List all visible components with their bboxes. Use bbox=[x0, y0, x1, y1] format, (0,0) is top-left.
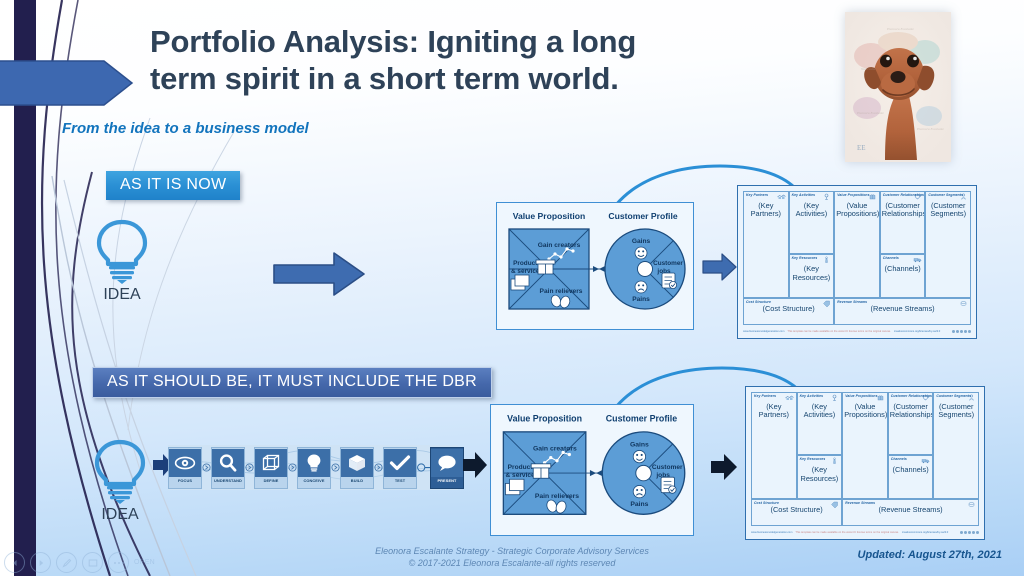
arrow-vpc-to-bmc-row1 bbox=[702, 252, 738, 282]
svg-text:Pain relievers: Pain relievers bbox=[540, 288, 583, 295]
bmc-footer-row2: www.businessmodelgeneration.com This tem… bbox=[751, 528, 979, 537]
bmc-label-key-partners: (Key Partners) bbox=[744, 202, 788, 219]
box-icon bbox=[341, 449, 373, 477]
svg-text:Pains: Pains bbox=[632, 296, 650, 303]
bmc-footer-mid: This template can be made available on t… bbox=[787, 330, 891, 333]
value-proposition-canvas-row2: Value Proposition Customer Profile Gain … bbox=[490, 404, 694, 536]
bmc-header-key-activities: Key Activities bbox=[800, 394, 824, 398]
bmc-cell-key-activities: Key Activities (Key Activities) bbox=[789, 191, 835, 254]
bmc-cell-key-partners: Key Partners (Key Partners) bbox=[751, 392, 797, 499]
dbr-connector-5 bbox=[374, 463, 383, 472]
bmc-label-value-propositions: (Value Propositions) bbox=[835, 202, 879, 219]
bmc-grid-row2: Key Partners (Key Partners) Key Activiti… bbox=[751, 392, 979, 526]
svg-text:Pains: Pains bbox=[630, 501, 648, 508]
bmc-label-customer-segments: (Customer Segments) bbox=[934, 403, 978, 420]
bmc-label-key-partners: (Key Partners) bbox=[752, 403, 796, 420]
lighthouse-icon bbox=[822, 256, 831, 263]
lightbulb-icon bbox=[92, 218, 152, 284]
bmc-label-cost-structure: (Cost Structure) bbox=[744, 305, 833, 313]
idea-block-row1: IDEA bbox=[82, 218, 162, 304]
updated-date: Updated: August 27th, 2021 bbox=[858, 549, 1002, 561]
idea-block-row2: IDEA bbox=[80, 438, 160, 524]
arrow-idea-to-vpc-row1 bbox=[272, 250, 366, 298]
idea-label-row2: IDEA bbox=[80, 506, 160, 524]
heart-icon bbox=[921, 394, 930, 401]
arrow-vpc-to-bmc-row2 bbox=[710, 452, 738, 482]
bmc-footer-left: www.businessmodelgeneration.com bbox=[743, 330, 784, 333]
bmc-header-revenue-streams: Revenue Streams bbox=[845, 501, 875, 505]
eye-icon bbox=[169, 449, 201, 477]
bmc-label-revenue-streams: (Revenue Streams) bbox=[843, 506, 978, 514]
play-icon[interactable] bbox=[30, 552, 51, 573]
truck-icon bbox=[921, 457, 930, 464]
bmc-footer-row1: www.businessmodelgeneration.com This tem… bbox=[743, 327, 971, 336]
player-open-label[interactable]: OPEN bbox=[134, 559, 155, 566]
idea-label-row1: IDEA bbox=[82, 286, 162, 304]
bmc-label-customer-relationships: (Customer Relationships) bbox=[889, 403, 933, 420]
svg-text:Value Proposition: Value Proposition bbox=[507, 414, 582, 424]
slides-icon[interactable] bbox=[82, 552, 103, 573]
dbr-step-label-focus: FOCUS bbox=[178, 478, 192, 483]
dbr-step-conceive[interactable]: CONCEIVE bbox=[297, 447, 331, 489]
svg-text:Pain relievers: Pain relievers bbox=[535, 493, 579, 500]
bmc-header-value-propositions: Value Propositions bbox=[837, 193, 869, 197]
dbr-step-label-define: DEFINE bbox=[264, 478, 279, 483]
dbr-connector-2 bbox=[245, 463, 254, 472]
dbr-step-test[interactable]: TEST bbox=[383, 447, 417, 489]
bmc-cell-customer-relationships: Customer Relationships (Customer Relatio… bbox=[888, 392, 934, 455]
bmc-label-revenue-streams: (Revenue Streams) bbox=[835, 305, 970, 313]
svg-text:Gains: Gains bbox=[630, 441, 649, 448]
bmc-cell-channels: Channels (Channels) bbox=[880, 254, 926, 298]
gear-arm-icon bbox=[822, 193, 831, 200]
bmc-footer-mid: This template can be made available on t… bbox=[795, 531, 899, 534]
dbr-step-focus[interactable]: FOCUS bbox=[168, 447, 202, 489]
handshake-icon bbox=[777, 193, 786, 200]
dbr-connector-6 bbox=[417, 463, 430, 472]
bmc-cell-value-propositions: Value Propositions (Value Propositions) bbox=[834, 191, 880, 298]
bmc-cell-key-resources: Key Resources (Key Resources) bbox=[797, 455, 843, 499]
dbr-connector-1 bbox=[202, 463, 211, 472]
dbr-step-label-understand: UNDERSTAND bbox=[214, 478, 242, 483]
bmc-label-value-propositions: (Value Propositions) bbox=[843, 403, 887, 420]
bmc-label-key-resources: (Key Resources) bbox=[798, 466, 842, 483]
banner-as-it-is-now: AS IT IS NOW bbox=[106, 171, 240, 200]
bmc-cell-revenue-streams: Revenue Streams (Revenue Streams) bbox=[842, 499, 979, 526]
bmc-label-customer-relationships: (Customer Relationships) bbox=[881, 202, 925, 219]
svg-text:Gain creators: Gain creators bbox=[538, 242, 581, 249]
bmc-cell-cost-structure: Cost Structure (Cost Structure) bbox=[751, 499, 842, 526]
bmc-header-channels: Channels bbox=[891, 457, 907, 461]
svg-text:Watercolor: Watercolor bbox=[861, 67, 877, 71]
dbr-step-present[interactable]: PRESENT bbox=[430, 447, 464, 489]
svg-text:Eleonora Escalante: Eleonora Escalante bbox=[916, 127, 944, 131]
business-model-canvas-row1: Key Partners (Key Partners) Key Activiti… bbox=[737, 185, 977, 339]
svg-text:Value Proposition: Value Proposition bbox=[513, 211, 586, 221]
page-title-line2: term spirit in a short term world. bbox=[150, 61, 750, 98]
title-chevron-icon bbox=[0, 57, 134, 109]
person-icon bbox=[959, 193, 968, 200]
page-title-line1: Portfolio Analysis: Igniting a long bbox=[150, 24, 750, 61]
bmc-header-value-propositions: Value Propositions bbox=[845, 394, 877, 398]
bmc-label-channels: (Channels) bbox=[889, 466, 933, 474]
bmc-license-dots bbox=[952, 330, 971, 333]
heart-icon bbox=[913, 193, 922, 200]
bmc-label-cost-structure: (Cost Structure) bbox=[752, 506, 841, 514]
person-icon bbox=[967, 394, 976, 401]
dbr-steps: FOCUS UNDERSTAND DEFINE bbox=[168, 445, 458, 490]
bmc-grid-row1: Key Partners (Key Partners) Key Activiti… bbox=[743, 191, 971, 325]
svg-text:Gains: Gains bbox=[632, 238, 651, 245]
truck-icon bbox=[913, 256, 922, 263]
dbr-step-define[interactable]: DEFINE bbox=[254, 447, 288, 489]
slide-canvas: Portfolio Analysis: Igniting a long term… bbox=[0, 0, 1024, 576]
bmc-label-key-activities: (Key Activities) bbox=[798, 403, 842, 420]
bmc-label-channels: (Channels) bbox=[881, 265, 925, 273]
speech-bubble-icon bbox=[431, 449, 463, 477]
svg-text:Customer: Customer bbox=[653, 260, 683, 267]
gift-icon bbox=[868, 193, 877, 200]
more-icon[interactable] bbox=[108, 552, 129, 573]
bmc-footer-right: creativecommons.org/licenses/by-sa/3.0 bbox=[894, 330, 940, 333]
bmc-cell-customer-segments: Customer Segments (Customer Segments) bbox=[933, 392, 979, 499]
handshake-icon bbox=[785, 394, 794, 401]
lighthouse-icon bbox=[830, 457, 839, 464]
bmc-header-customer-segments: Customer Segments bbox=[928, 193, 963, 197]
svg-text:Customer Profile: Customer Profile bbox=[606, 414, 677, 424]
bmc-header-channels: Channels bbox=[883, 256, 899, 260]
prev-icon[interactable] bbox=[4, 552, 25, 573]
bmc-cell-channels: Channels (Channels) bbox=[888, 455, 934, 499]
svg-text:Eleonora Escalante: Eleonora Escalante bbox=[886, 27, 914, 31]
bmc-cell-key-resources: Key Resources (Key Resources) bbox=[789, 254, 835, 298]
bmc-license-dots bbox=[960, 531, 979, 534]
dbr-connector-3 bbox=[288, 463, 297, 472]
dbr-step-label-conceive: CONCEIVE bbox=[303, 478, 324, 483]
magnifier-icon bbox=[212, 449, 244, 477]
page-title: Portfolio Analysis: Igniting a long term… bbox=[150, 24, 750, 97]
bmc-label-customer-segments: (Customer Segments) bbox=[926, 202, 970, 219]
bmc-cell-key-activities: Key Activities (Key Activities) bbox=[797, 392, 843, 455]
svg-text:Customer Profile: Customer Profile bbox=[608, 211, 677, 221]
value-proposition-canvas-row1: Value Proposition Customer Profile Gain … bbox=[496, 202, 694, 330]
svg-text:EE: EE bbox=[857, 144, 866, 152]
banner-as-it-should-be: AS IT SHOULD BE, IT MUST INCLUDE THE DBR bbox=[92, 367, 492, 398]
lightbulb-icon bbox=[298, 449, 330, 477]
dbr-step-build[interactable]: BUILD bbox=[340, 447, 374, 489]
dbr-connector-4 bbox=[331, 463, 340, 472]
dbr-step-understand[interactable]: UNDERSTAND bbox=[211, 447, 245, 489]
dbr-process-strip: FOCUS UNDERSTAND DEFINE bbox=[168, 445, 458, 490]
bmc-header-revenue-streams: Revenue Streams bbox=[837, 300, 867, 304]
checkmark-icon bbox=[384, 449, 416, 477]
bmc-header-customer-segments: Customer Segments bbox=[936, 394, 971, 398]
page-subtitle: From the idea to a business model bbox=[62, 120, 309, 137]
bmc-footer-left: www.businessmodelgeneration.com bbox=[751, 531, 792, 534]
business-model-canvas-row2: Key Partners (Key Partners) Key Activiti… bbox=[745, 386, 985, 540]
dbr-step-label-present: PRESENT bbox=[437, 478, 456, 483]
svg-text:Eleonora Escalante: Eleonora Escalante bbox=[856, 111, 884, 115]
wireframe-cube-icon bbox=[255, 449, 287, 477]
gift-icon bbox=[876, 394, 885, 401]
bmc-cell-cost-structure: Cost Structure (Cost Structure) bbox=[743, 298, 834, 325]
bmc-cell-customer-segments: Customer Segments (Customer Segments) bbox=[925, 191, 971, 298]
svg-text:Customer: Customer bbox=[652, 464, 683, 471]
bmc-label-key-activities: (Key Activities) bbox=[790, 202, 834, 219]
dbr-step-label-test: TEST bbox=[395, 478, 405, 483]
bmc-cell-value-propositions: Value Propositions (Value Propositions) bbox=[842, 392, 888, 499]
bmc-header-key-resources: Key Resources bbox=[800, 457, 826, 461]
bmc-label-key-resources: (Key Resources) bbox=[790, 265, 834, 282]
bmc-cell-customer-relationships: Customer Relationships (Customer Relatio… bbox=[880, 191, 926, 254]
bmc-header-key-partners: Key Partners bbox=[746, 193, 768, 197]
bmc-header-key-activities: Key Activities bbox=[792, 193, 816, 197]
svg-text:Gain creators: Gain creators bbox=[533, 445, 577, 452]
dbr-step-label-build: BUILD bbox=[351, 478, 363, 483]
gear-arm-icon bbox=[830, 394, 839, 401]
pen-icon[interactable] bbox=[56, 552, 77, 573]
arrow-dbr-to-vpc-row2 bbox=[462, 450, 488, 480]
bmc-footer-right: creativecommons.org/licenses/by-sa/3.0 bbox=[902, 531, 948, 534]
bmc-cell-key-partners: Key Partners (Key Partners) bbox=[743, 191, 789, 298]
bmc-header-key-partners: Key Partners bbox=[754, 394, 776, 398]
bmc-header-key-resources: Key Resources bbox=[792, 256, 818, 260]
bmc-cell-revenue-streams: Revenue Streams (Revenue Streams) bbox=[834, 298, 971, 325]
player-controls[interactable]: OPEN bbox=[4, 552, 155, 573]
lightbulb-icon bbox=[90, 438, 150, 504]
watercolor-dog-portrait: Eleonora Escalante Watercolor Eleonora E… bbox=[845, 12, 951, 162]
